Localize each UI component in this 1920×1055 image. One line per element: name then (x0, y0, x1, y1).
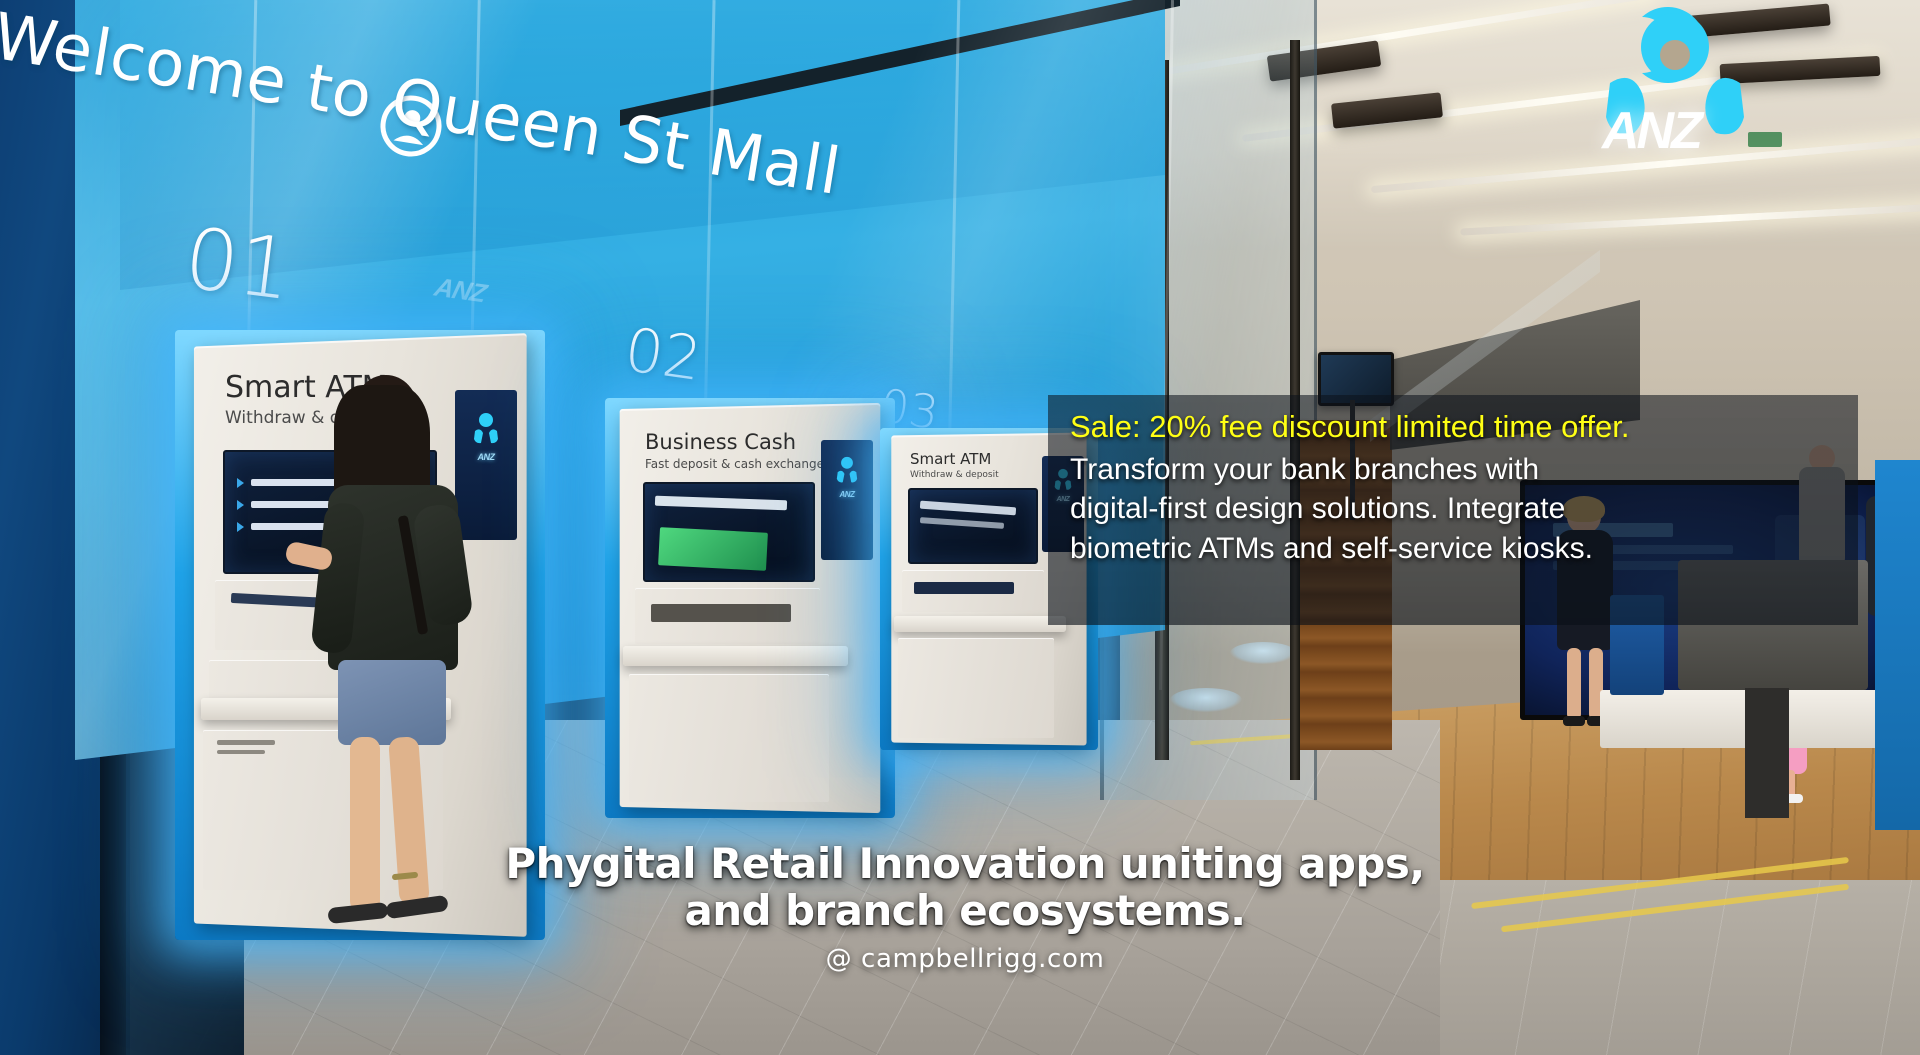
cash-slot[interactable] (651, 604, 791, 622)
bay-number-01: 01 (179, 209, 297, 319)
kiosk-03-title: Smart ATM (910, 450, 991, 468)
kiosk-03-shelf (894, 616, 1066, 632)
ceiling-light-strip (1460, 201, 1920, 235)
promo-sale-line: Sale: 20% fee discount limited time offe… (1070, 409, 1840, 446)
screen-graphic (920, 501, 1016, 516)
kiosk-pedestal (1745, 688, 1789, 818)
sandal-left (327, 902, 388, 924)
promo-body-line-3: biometric ATMs and self-service kiosks. (1070, 529, 1840, 569)
leg-left (350, 737, 380, 913)
bay-number-02: 02 (621, 315, 706, 395)
kiosk-02-lower-panel (629, 674, 829, 802)
kiosk-03-subtitle: Withdraw & deposit (910, 470, 999, 480)
anz-branch-wordmark: ANZ (1602, 101, 1700, 161)
screen-graphic (920, 517, 1004, 529)
anz-logo-icon (836, 456, 858, 490)
chevron-right-icon (237, 522, 244, 532)
screen-graphic (658, 527, 768, 571)
screen-graphic (655, 496, 787, 511)
caption-block: Phygital Retail Innovation uniting apps,… (400, 840, 1530, 974)
kiosk-03-screen[interactable] (908, 488, 1038, 564)
kiosk-02-shelf (623, 646, 848, 666)
blue-banner (1875, 460, 1920, 830)
panel-label (217, 750, 265, 754)
denim-shorts (338, 660, 446, 745)
kiosk-02-subtitle: Fast deposit & cash exchange (645, 457, 824, 471)
anz-branch-logo: ANZ (1580, 5, 1770, 175)
kiosk-02-anz-badge: ANZ (821, 440, 873, 560)
chevron-right-icon (237, 478, 244, 488)
promo-overlay-panel: Sale: 20% fee discount limited time offe… (1048, 395, 1858, 625)
caption-headline-line-1: Phygital Retail Innovation uniting apps, (400, 840, 1530, 887)
kiosk-02-title: Business Cash (645, 430, 796, 454)
kiosk-03-lower-panel (898, 638, 1054, 738)
panel-label (217, 740, 275, 745)
caption-headline-line-2: and branch ecosystems. (400, 887, 1530, 934)
promo-body-line-2: digital-first design solutions. Integrat… (1070, 489, 1840, 529)
kiosk-02-screen[interactable] (643, 482, 815, 582)
photo-scene: Welcome to Queen St Mall 01 02 03 ANZ Sm… (0, 0, 1920, 1055)
chevron-right-icon (237, 500, 244, 510)
kiosk-02-anz-label: ANZ (840, 490, 855, 499)
card-slot[interactable] (914, 582, 1014, 594)
promo-body-line-1: Transform your bank branches with (1070, 450, 1840, 490)
caption-credit: @ campbellrigg.com (400, 944, 1530, 974)
